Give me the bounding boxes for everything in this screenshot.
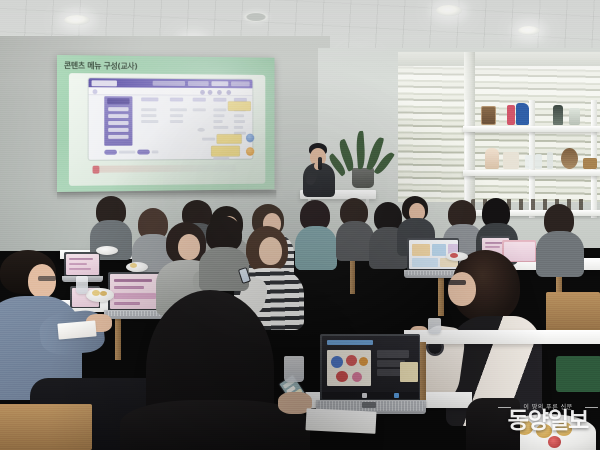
ui-circle-red (346, 355, 357, 366)
chair-cushion (556, 356, 600, 392)
table-cell (170, 108, 187, 111)
bell-icon (208, 89, 213, 94)
doll-figurine-icon (485, 148, 499, 169)
laptop-screen (322, 336, 419, 399)
ui-chat-row (377, 350, 409, 358)
attendee-body (295, 226, 337, 270)
table-header-4 (213, 98, 226, 102)
ui-line (69, 263, 87, 265)
pill-label-2 (152, 150, 159, 153)
paper-document (305, 408, 376, 434)
laptop-screen (110, 274, 161, 309)
glassware-2-icon (535, 154, 542, 169)
ui-line (114, 279, 152, 282)
attendee-face (448, 272, 476, 306)
food-item (100, 291, 107, 296)
horse-figurine-icon (507, 105, 515, 125)
table-cell (213, 126, 228, 129)
blind-headrail (398, 52, 600, 66)
horse-figurine-blue-icon (516, 103, 529, 125)
ui-circle-blue (331, 356, 343, 368)
laptop-brand-label (362, 402, 376, 408)
oval-frame-icon (561, 148, 578, 169)
ceiling-light-4 (436, 5, 462, 16)
table-cell (234, 126, 243, 129)
highlight-box-1 (228, 102, 250, 111)
ui-bottom-icon (362, 393, 367, 398)
highlight-box-3 (211, 146, 239, 156)
pill-button-1 (104, 150, 117, 155)
table-header-2 (170, 98, 183, 102)
laptop-lid (108, 272, 162, 310)
laptop-keyboard (406, 271, 460, 275)
laptop-screen (66, 254, 99, 275)
sidebar-item-4 (108, 128, 128, 131)
paper-document (57, 320, 96, 339)
table-cell (193, 108, 206, 111)
attendee-face (259, 237, 282, 265)
tablet-screen-ui (504, 242, 535, 261)
cup-1 (76, 276, 88, 294)
glassware-icon (525, 155, 533, 169)
sidebar-item-1 (108, 107, 128, 111)
highlight-caption-2 (213, 157, 229, 160)
laptop-keyboard (106, 311, 164, 316)
shelf-board-mid (463, 170, 600, 176)
food-item (556, 422, 572, 436)
table-header-1 (141, 97, 158, 101)
slide-title: 콘텐츠 메뉴 구성(교사) (64, 60, 138, 72)
slide-footer-note (93, 165, 236, 173)
projection-screen: 콘텐츠 메뉴 구성(교사) (57, 55, 274, 192)
ui-block (114, 293, 156, 299)
table-cell (141, 108, 156, 111)
sidebar-item-2 (108, 114, 128, 117)
attendee-body (536, 231, 584, 277)
badge-blue-icon (246, 134, 254, 143)
site-nav-chip-4 (231, 81, 250, 86)
cup-2 (284, 356, 304, 382)
card-stand-icon (503, 152, 519, 169)
site-logo-icon (92, 80, 117, 86)
food-item (92, 290, 100, 296)
ui-line (114, 286, 144, 289)
ceiling-light-ring (244, 12, 268, 22)
ui-note-yellow (400, 362, 418, 382)
highlight-box-2 (217, 135, 241, 144)
ui-line (485, 246, 500, 248)
ui-line (114, 302, 140, 305)
table-cell (213, 120, 222, 123)
small-divider (197, 128, 205, 132)
basket-icon (583, 158, 597, 169)
lantern-icon (553, 105, 563, 125)
ui-line (69, 268, 91, 270)
ceiling-light-5 (518, 26, 540, 35)
glasses-icon (38, 276, 56, 281)
sidebar-item-5 (108, 135, 128, 139)
ui-card (412, 244, 430, 256)
microphone-icon (318, 157, 322, 170)
plant-pot (352, 168, 374, 188)
table-cell (141, 120, 158, 123)
slide-content-card (69, 73, 265, 186)
food-item (548, 436, 561, 448)
search-icon (226, 90, 231, 95)
display-shelf (463, 100, 600, 218)
badge-orange-icon (246, 147, 254, 156)
table-cell (234, 114, 244, 117)
site-nav-chip-3 (211, 81, 228, 86)
site-nav-chip-2 (188, 81, 209, 86)
attendee-face (28, 264, 56, 298)
pill-label-1 (119, 150, 135, 153)
site-nav-chip-1 (153, 81, 185, 86)
table-cell (170, 114, 183, 117)
food-item (450, 253, 458, 258)
food-item (130, 263, 137, 268)
bottle-icon (547, 152, 553, 169)
attendee-face (178, 234, 200, 260)
site-toolbar (89, 87, 253, 96)
framed-picture-icon (481, 106, 496, 125)
cup-3 (428, 318, 441, 334)
ui-card (412, 258, 438, 267)
food-item (536, 424, 552, 438)
table-cell (170, 120, 183, 123)
ui-card (432, 244, 446, 256)
laptop-lid (320, 334, 420, 400)
table-header-3 (193, 98, 206, 102)
ui-line (69, 258, 93, 260)
ui-circle-orange (359, 357, 368, 366)
pill-button-2 (137, 150, 150, 154)
highlight-caption-1 (202, 138, 215, 141)
ui-circle-red-2 (336, 371, 348, 382)
ceiling-light-1 (64, 15, 90, 25)
ui-bottombar (322, 392, 419, 399)
site-sidebar-menu (104, 96, 132, 146)
tablet-screen (504, 242, 535, 261)
table-cell (141, 114, 156, 117)
glasses-icon (448, 280, 466, 285)
sidebar-item-3 (108, 121, 128, 124)
ui-bottom-icon (394, 393, 399, 398)
ui-circle-pink (352, 372, 362, 382)
table-cell (234, 120, 245, 123)
ui-titlebar (327, 340, 373, 345)
user-icon (200, 89, 205, 94)
home-icon (93, 89, 98, 94)
shelf-board-top (463, 126, 600, 132)
settings-icon (217, 90, 222, 95)
chair-back-left (0, 404, 92, 450)
photo-scene: 콘텐츠 메뉴 구성(교사) (0, 0, 600, 450)
laptop-lid (64, 252, 100, 276)
table-cell (213, 114, 224, 117)
sidebar-heading (107, 98, 129, 104)
table-cell (213, 108, 226, 111)
jar-icon (569, 108, 580, 125)
food-plate-3 (96, 246, 118, 255)
foreground-shoulder-right (466, 398, 520, 450)
